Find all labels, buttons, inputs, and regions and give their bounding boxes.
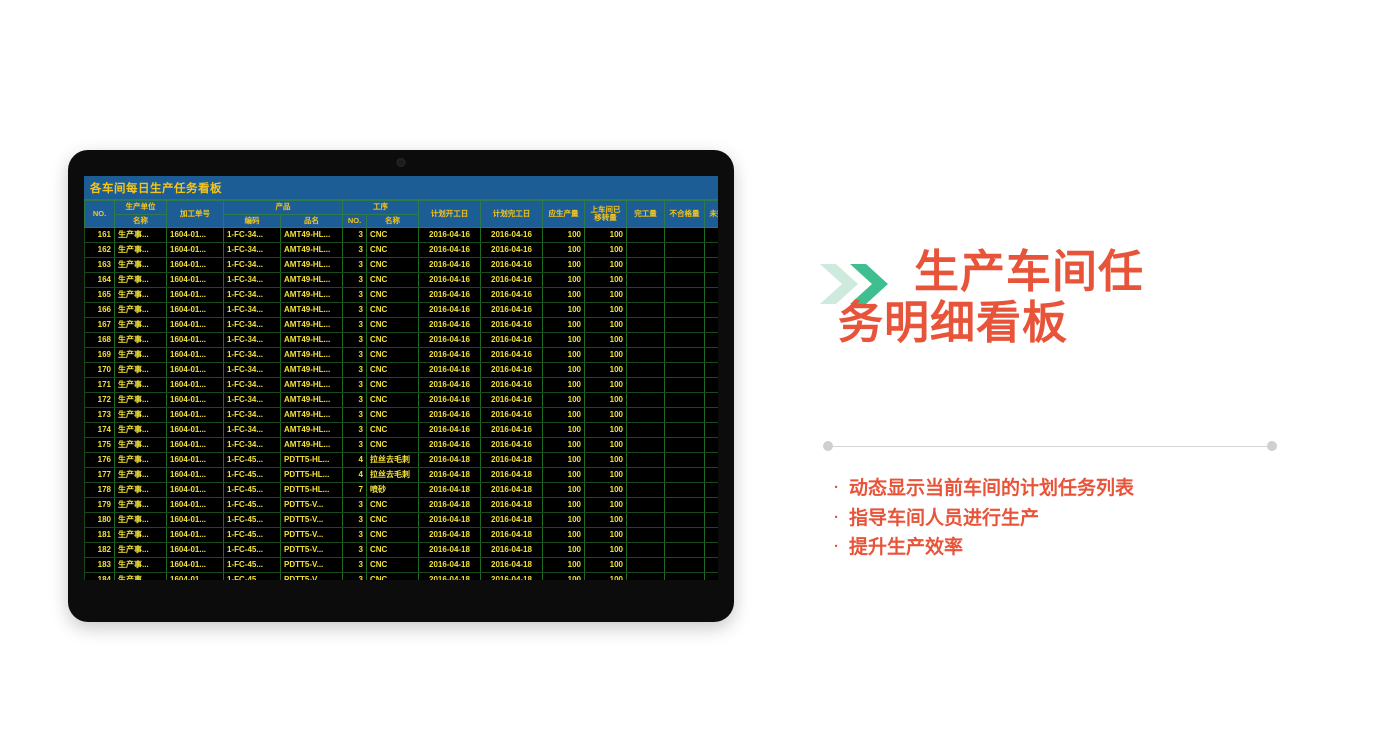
table-row[interactable]: 168生产事...1604-01...1-FC-34...AMT49-HL...… <box>85 333 719 348</box>
cell-加工单号: 1604-01... <box>167 453 224 468</box>
cell-工序名称: CNC <box>367 498 419 513</box>
cell-品名: AMT49-HL... <box>281 318 343 333</box>
th-remaining-qty: 未完成量 <box>705 201 719 228</box>
cell-上车间已移转量: 100 <box>585 243 627 258</box>
cell-品名: AMT49-HL... <box>281 378 343 393</box>
cell-计划开工日: 2016-04-16 <box>419 423 481 438</box>
cell-编码: 1-FC-34... <box>224 333 281 348</box>
cell-名称: 生产事... <box>115 333 167 348</box>
cell-完工量 <box>627 288 665 303</box>
cell-品名: AMT49-HL... <box>281 243 343 258</box>
cell-工序NO.: 3 <box>343 513 367 528</box>
tablet-screen: 各车间每日生产任务看板 NO. 生产 <box>84 176 718 580</box>
cell-完工量 <box>627 378 665 393</box>
cell-完工量 <box>627 303 665 318</box>
cell-上车间已移转量: 100 <box>585 543 627 558</box>
cell-加工单号: 1604-01... <box>167 288 224 303</box>
cell-加工单号: 1604-01... <box>167 258 224 273</box>
cell-完工量 <box>627 423 665 438</box>
cell-计划开工日: 2016-04-18 <box>419 453 481 468</box>
cell-完工量 <box>627 543 665 558</box>
cell-工序NO.: 3 <box>343 438 367 453</box>
page-title: 生产车间任 务明细看板 <box>914 246 1144 349</box>
cell-加工单号: 1604-01... <box>167 378 224 393</box>
cell-工序名称: CNC <box>367 543 419 558</box>
cell-加工单号: 1604-01... <box>167 243 224 258</box>
cell-编码: 1-FC-45... <box>224 498 281 513</box>
cell-编码: 1-FC-45... <box>224 483 281 498</box>
cell-加工单号: 1604-01... <box>167 408 224 423</box>
cell-完工量 <box>627 393 665 408</box>
table-row[interactable]: 181生产事...1604-01...1-FC-45...PDTT5-V...3… <box>85 528 719 543</box>
cell-计划开工日: 2016-04-16 <box>419 408 481 423</box>
cell-名称: 生产事... <box>115 393 167 408</box>
th-completed-qty: 完工量 <box>627 201 665 228</box>
cell-计划开工日: 2016-04-16 <box>419 243 481 258</box>
cell-工序名称: CNC <box>367 258 419 273</box>
cell-名称: 生产事... <box>115 228 167 243</box>
cell-NO.: 165 <box>85 288 115 303</box>
cell-名称: 生产事... <box>115 453 167 468</box>
th-process-name: 名称 <box>367 214 419 228</box>
cell-完工量 <box>627 228 665 243</box>
cell-品名: AMT49-HL... <box>281 363 343 378</box>
bullet-marker-icon: · <box>834 538 839 555</box>
table-row[interactable]: 178生产事...1604-01...1-FC-45...PDTT5-HL...… <box>85 483 719 498</box>
cell-上车间已移转量: 100 <box>585 438 627 453</box>
cell-工序名称: 拉丝去毛刺 <box>367 468 419 483</box>
cell-应生产量: 100 <box>543 573 585 580</box>
cell-完工量 <box>627 513 665 528</box>
table-row[interactable]: 170生产事...1604-01...1-FC-34...AMT49-HL...… <box>85 363 719 378</box>
cell-工序NO.: 3 <box>343 273 367 288</box>
cell-未完成量: 100 <box>705 528 719 543</box>
cell-工序名称: CNC <box>367 318 419 333</box>
cell-品名: PDTT5-V... <box>281 543 343 558</box>
cell-加工单号: 1604-01... <box>167 348 224 363</box>
cell-不合格量 <box>665 558 705 573</box>
kanban-title: 各车间每日生产任务看板 <box>84 176 718 200</box>
cell-未完成量: 100 <box>705 243 719 258</box>
cell-NO.: 178 <box>85 483 115 498</box>
cell-NO.: 183 <box>85 558 115 573</box>
cell-编码: 1-FC-45... <box>224 573 281 580</box>
cell-编码: 1-FC-45... <box>224 468 281 483</box>
cell-工序NO.: 3 <box>343 333 367 348</box>
table-row[interactable]: 174生产事...1604-01...1-FC-34...AMT49-HL...… <box>85 423 719 438</box>
cell-工序名称: 喷砂 <box>367 483 419 498</box>
cell-未完成量: 100 <box>705 348 719 363</box>
production-task-table: NO. 生产单位 加工单号 产品 工序 计划开工日 计划完工日 应生产量 上车间… <box>84 200 718 580</box>
kanban-app: 各车间每日生产任务看板 NO. 生产 <box>84 176 718 580</box>
cell-品名: AMT49-HL... <box>281 393 343 408</box>
feature-bullet-list: ·动态显示当前车间的计划任务列表·指导车间人员进行生产·提升生产效率 <box>834 474 1304 563</box>
cell-计划开工日: 2016-04-18 <box>419 558 481 573</box>
cell-品名: PDTT5-HL... <box>281 468 343 483</box>
cell-编码: 1-FC-45... <box>224 543 281 558</box>
cell-计划完工日: 2016-04-18 <box>481 483 543 498</box>
cell-不合格量 <box>665 513 705 528</box>
cell-计划开工日: 2016-04-16 <box>419 393 481 408</box>
th-product-name: 品名 <box>281 214 343 228</box>
cell-完工量 <box>627 318 665 333</box>
th-process-no: NO. <box>343 214 367 228</box>
cell-上车间已移转量: 100 <box>585 513 627 528</box>
cell-不合格量 <box>665 438 705 453</box>
cell-完工量 <box>627 453 665 468</box>
list-item: ·提升生产效率 <box>834 533 1304 563</box>
th-product-group: 产品 <box>224 201 343 215</box>
cell-编码: 1-FC-45... <box>224 528 281 543</box>
cell-工序名称: CNC <box>367 438 419 453</box>
cell-NO.: 174 <box>85 423 115 438</box>
cell-加工单号: 1604-01... <box>167 558 224 573</box>
table-row[interactable]: 163生产事...1604-01...1-FC-34...AMT49-HL...… <box>85 258 719 273</box>
cell-加工单号: 1604-01... <box>167 303 224 318</box>
cell-不合格量 <box>665 468 705 483</box>
cell-计划完工日: 2016-04-18 <box>481 513 543 528</box>
cell-工序NO.: 3 <box>343 318 367 333</box>
cell-计划开工日: 2016-04-16 <box>419 378 481 393</box>
cell-上车间已移转量: 100 <box>585 378 627 393</box>
cell-工序名称: CNC <box>367 573 419 580</box>
cell-工序NO.: 3 <box>343 543 367 558</box>
table-row[interactable]: 162生产事...1604-01...1-FC-34...AMT49-HL...… <box>85 243 719 258</box>
table-row[interactable]: 169生产事...1604-01...1-FC-34...AMT49-HL...… <box>85 348 719 363</box>
cell-计划完工日: 2016-04-16 <box>481 273 543 288</box>
cell-工序NO.: 3 <box>343 408 367 423</box>
cell-计划完工日: 2016-04-18 <box>481 543 543 558</box>
cell-工序名称: CNC <box>367 303 419 318</box>
th-plan-end-date: 计划完工日 <box>481 201 543 228</box>
cell-上车间已移转量: 100 <box>585 423 627 438</box>
cell-计划开工日: 2016-04-16 <box>419 288 481 303</box>
cell-计划完工日: 2016-04-18 <box>481 453 543 468</box>
cell-计划完工日: 2016-04-16 <box>481 393 543 408</box>
cell-上车间已移转量: 100 <box>585 228 627 243</box>
cell-编码: 1-FC-34... <box>224 258 281 273</box>
cell-未完成量: 100 <box>705 573 719 580</box>
cell-名称: 生产事... <box>115 258 167 273</box>
cell-上车间已移转量: 100 <box>585 318 627 333</box>
cell-编码: 1-FC-34... <box>224 228 281 243</box>
cell-NO.: 176 <box>85 453 115 468</box>
cell-工序NO.: 3 <box>343 573 367 580</box>
cell-计划开工日: 2016-04-16 <box>419 303 481 318</box>
th-no: NO. <box>85 201 115 228</box>
cell-应生产量: 100 <box>543 228 585 243</box>
page-title-line-2: 务明细看板 <box>838 297 1144 348</box>
cell-计划开工日: 2016-04-18 <box>419 513 481 528</box>
cell-计划完工日: 2016-04-16 <box>481 258 543 273</box>
cell-不合格量 <box>665 528 705 543</box>
tablet-device-mockup: 各车间每日生产任务看板 NO. 生产 <box>68 150 734 622</box>
cell-工序NO.: 3 <box>343 288 367 303</box>
cell-不合格量 <box>665 288 705 303</box>
cell-加工单号: 1604-01... <box>167 318 224 333</box>
cell-计划完工日: 2016-04-16 <box>481 333 543 348</box>
table-row[interactable]: 177生产事...1604-01...1-FC-45...PDTT5-HL...… <box>85 468 719 483</box>
cell-品名: PDTT5-HL... <box>281 483 343 498</box>
cell-加工单号: 1604-01... <box>167 483 224 498</box>
cell-计划开工日: 2016-04-18 <box>419 543 481 558</box>
cell-计划完工日: 2016-04-16 <box>481 408 543 423</box>
cell-加工单号: 1604-01... <box>167 273 224 288</box>
cell-名称: 生产事... <box>115 498 167 513</box>
cell-计划开工日: 2016-04-16 <box>419 438 481 453</box>
cell-计划完工日: 2016-04-16 <box>481 423 543 438</box>
cell-编码: 1-FC-45... <box>224 558 281 573</box>
bullet-text: 指导车间人员进行生产 <box>849 508 1039 529</box>
cell-应生产量: 100 <box>543 468 585 483</box>
cell-工序NO.: 3 <box>343 558 367 573</box>
cell-NO.: 180 <box>85 513 115 528</box>
section-divider <box>823 441 1277 451</box>
cell-未完成量: 100 <box>705 513 719 528</box>
table-row[interactable]: 172生产事...1604-01...1-FC-34...AMT49-HL...… <box>85 393 719 408</box>
cell-编码: 1-FC-34... <box>224 273 281 288</box>
table-row[interactable]: 165生产事...1604-01...1-FC-34...AMT49-HL...… <box>85 288 719 303</box>
cell-未完成量: 100 <box>705 258 719 273</box>
cell-计划开工日: 2016-04-18 <box>419 468 481 483</box>
cell-完工量 <box>627 408 665 423</box>
cell-计划开工日: 2016-04-16 <box>419 273 481 288</box>
cell-工序NO.: 3 <box>343 393 367 408</box>
cell-应生产量: 100 <box>543 273 585 288</box>
cell-工序名称: CNC <box>367 243 419 258</box>
cell-不合格量 <box>665 348 705 363</box>
cell-品名: AMT49-HL... <box>281 258 343 273</box>
cell-上车间已移转量: 100 <box>585 333 627 348</box>
cell-未完成量: 100 <box>705 363 719 378</box>
cell-品名: PDTT5-V... <box>281 558 343 573</box>
cell-应生产量: 100 <box>543 258 585 273</box>
cell-不合格量 <box>665 228 705 243</box>
headline-block: 生产车间任 务明细看板 <box>820 246 1290 349</box>
list-item: ·指导车间人员进行生产 <box>834 504 1304 534</box>
table-row[interactable]: 180生产事...1604-01...1-FC-45...PDTT5-V...3… <box>85 513 719 528</box>
cell-应生产量: 100 <box>543 318 585 333</box>
cell-NO.: 173 <box>85 408 115 423</box>
cell-工序NO.: 3 <box>343 363 367 378</box>
cell-加工单号: 1604-01... <box>167 363 224 378</box>
cell-完工量 <box>627 573 665 580</box>
cell-上车间已移转量: 100 <box>585 288 627 303</box>
cell-工序名称: CNC <box>367 423 419 438</box>
cell-计划完工日: 2016-04-18 <box>481 468 543 483</box>
table-row[interactable]: 179生产事...1604-01...1-FC-45...PDTT5-V...3… <box>85 498 719 513</box>
cell-名称: 生产事... <box>115 378 167 393</box>
divider-dot-left <box>823 441 833 451</box>
cell-编码: 1-FC-34... <box>224 243 281 258</box>
cell-编码: 1-FC-34... <box>224 318 281 333</box>
cell-品名: PDTT5-V... <box>281 573 343 580</box>
cell-完工量 <box>627 258 665 273</box>
cell-不合格量 <box>665 273 705 288</box>
list-item: ·动态显示当前车间的计划任务列表 <box>834 474 1304 504</box>
cell-加工单号: 1604-01... <box>167 393 224 408</box>
cell-不合格量 <box>665 408 705 423</box>
cell-计划完工日: 2016-04-16 <box>481 318 543 333</box>
table-row[interactable]: 175生产事...1604-01...1-FC-34...AMT49-HL...… <box>85 438 719 453</box>
cell-名称: 生产事... <box>115 318 167 333</box>
page-title-line-1: 生产车间任 <box>914 246 1144 297</box>
cell-NO.: 171 <box>85 378 115 393</box>
cell-计划完工日: 2016-04-18 <box>481 528 543 543</box>
cell-未完成量: 100 <box>705 498 719 513</box>
cell-计划完工日: 2016-04-18 <box>481 573 543 580</box>
cell-名称: 生产事... <box>115 528 167 543</box>
table-row[interactable]: 164生产事...1604-01...1-FC-34...AMT49-HL...… <box>85 273 719 288</box>
cell-上车间已移转量: 100 <box>585 573 627 580</box>
cell-NO.: 163 <box>85 258 115 273</box>
cell-不合格量 <box>665 318 705 333</box>
table-header: NO. 生产单位 加工单号 产品 工序 计划开工日 计划完工日 应生产量 上车间… <box>85 201 719 228</box>
cell-名称: 生产事... <box>115 513 167 528</box>
kanban-table-scroll-area[interactable]: NO. 生产单位 加工单号 产品 工序 计划开工日 计划完工日 应生产量 上车间… <box>84 200 718 580</box>
cell-完工量 <box>627 558 665 573</box>
cell-上车间已移转量: 100 <box>585 393 627 408</box>
th-product-code: 编码 <box>224 214 281 228</box>
table-body: 161生产事...1604-01...1-FC-34...AMT49-HL...… <box>85 228 719 580</box>
cell-上车间已移转量: 100 <box>585 483 627 498</box>
cell-完工量 <box>627 498 665 513</box>
cell-工序NO.: 4 <box>343 468 367 483</box>
cell-NO.: 181 <box>85 528 115 543</box>
cell-应生产量: 100 <box>543 498 585 513</box>
table-row[interactable]: 183生产事...1604-01...1-FC-45...PDTT5-V...3… <box>85 558 719 573</box>
cell-编码: 1-FC-34... <box>224 408 281 423</box>
cell-未完成量: 100 <box>705 453 719 468</box>
table-row[interactable]: 184生产事...1604-01...1-FC-45...PDTT5-V...3… <box>85 573 719 580</box>
cell-加工单号: 1604-01... <box>167 468 224 483</box>
cell-工序NO.: 3 <box>343 228 367 243</box>
cell-加工单号: 1604-01... <box>167 423 224 438</box>
cell-编码: 1-FC-34... <box>224 438 281 453</box>
cell-计划开工日: 2016-04-18 <box>419 573 481 580</box>
cell-计划完工日: 2016-04-16 <box>481 288 543 303</box>
cell-工序名称: CNC <box>367 393 419 408</box>
cell-名称: 生产事... <box>115 288 167 303</box>
cell-未完成量: 100 <box>705 228 719 243</box>
cell-工序名称: CNC <box>367 528 419 543</box>
cell-计划完工日: 2016-04-16 <box>481 243 543 258</box>
th-defect-qty: 不合格量 <box>665 201 705 228</box>
cell-工序NO.: 3 <box>343 528 367 543</box>
table-row[interactable]: 182生产事...1604-01...1-FC-45...PDTT5-V...3… <box>85 543 719 558</box>
cell-NO.: 162 <box>85 243 115 258</box>
cell-名称: 生产事... <box>115 573 167 580</box>
cell-应生产量: 100 <box>543 453 585 468</box>
cell-名称: 生产事... <box>115 468 167 483</box>
cell-计划开工日: 2016-04-16 <box>419 258 481 273</box>
cell-NO.: 167 <box>85 318 115 333</box>
cell-应生产量: 100 <box>543 333 585 348</box>
cell-不合格量 <box>665 573 705 580</box>
cell-上车间已移转量: 100 <box>585 528 627 543</box>
cell-NO.: 175 <box>85 438 115 453</box>
cell-完工量 <box>627 363 665 378</box>
cell-名称: 生产事... <box>115 243 167 258</box>
cell-上车间已移转量: 100 <box>585 558 627 573</box>
cell-品名: AMT49-HL... <box>281 408 343 423</box>
cell-未完成量: 100 <box>705 318 719 333</box>
cell-不合格量 <box>665 303 705 318</box>
cell-加工单号: 1604-01... <box>167 498 224 513</box>
cell-名称: 生产事... <box>115 438 167 453</box>
cell-应生产量: 100 <box>543 243 585 258</box>
slide-canvas: 各车间每日生产任务看板 NO. 生产 <box>0 0 1377 753</box>
cell-应生产量: 100 <box>543 393 585 408</box>
cell-名称: 生产事... <box>115 408 167 423</box>
cell-名称: 生产事... <box>115 423 167 438</box>
cell-未完成量: 100 <box>705 423 719 438</box>
cell-加工单号: 1604-01... <box>167 333 224 348</box>
cell-品名: PDTT5-HL... <box>281 453 343 468</box>
cell-计划完工日: 2016-04-18 <box>481 558 543 573</box>
cell-品名: AMT49-HL... <box>281 288 343 303</box>
cell-计划开工日: 2016-04-18 <box>419 528 481 543</box>
cell-加工单号: 1604-01... <box>167 513 224 528</box>
cell-编码: 1-FC-45... <box>224 453 281 468</box>
cell-NO.: 170 <box>85 363 115 378</box>
cell-未完成量: 100 <box>705 543 719 558</box>
cell-应生产量: 100 <box>543 408 585 423</box>
th-transferred-qty: 上车间已移转量 <box>585 201 627 228</box>
cell-品名: PDTT5-V... <box>281 528 343 543</box>
bullet-marker-icon: · <box>834 509 839 526</box>
cell-未完成量: 100 <box>705 378 719 393</box>
cell-未完成量: 100 <box>705 438 719 453</box>
cell-应生产量: 100 <box>543 528 585 543</box>
cell-上车间已移转量: 100 <box>585 273 627 288</box>
cell-完工量 <box>627 468 665 483</box>
cell-上车间已移转量: 100 <box>585 408 627 423</box>
table-row[interactable]: 171生产事...1604-01...1-FC-34...AMT49-HL...… <box>85 378 719 393</box>
cell-工序NO.: 3 <box>343 423 367 438</box>
cell-应生产量: 100 <box>543 363 585 378</box>
divider-line <box>833 446 1267 447</box>
cell-NO.: 179 <box>85 498 115 513</box>
cell-工序名称: CNC <box>367 288 419 303</box>
cell-上车间已移转量: 100 <box>585 498 627 513</box>
cell-完工量 <box>627 333 665 348</box>
cell-不合格量 <box>665 363 705 378</box>
cell-编码: 1-FC-34... <box>224 363 281 378</box>
table-row[interactable]: 161生产事...1604-01...1-FC-34...AMT49-HL...… <box>85 228 719 243</box>
table-row[interactable]: 166生产事...1604-01...1-FC-34...AMT49-HL...… <box>85 303 719 318</box>
cell-计划完工日: 2016-04-16 <box>481 228 543 243</box>
cell-品名: AMT49-HL... <box>281 273 343 288</box>
table-row[interactable]: 167生产事...1604-01...1-FC-34...AMT49-HL...… <box>85 318 719 333</box>
cell-未完成量: 100 <box>705 558 719 573</box>
table-row[interactable]: 176生产事...1604-01...1-FC-45...PDTT5-HL...… <box>85 453 719 468</box>
table-row[interactable]: 173生产事...1604-01...1-FC-34...AMT49-HL...… <box>85 408 719 423</box>
cell-计划完工日: 2016-04-16 <box>481 303 543 318</box>
cell-名称: 生产事... <box>115 273 167 288</box>
cell-应生产量: 100 <box>543 483 585 498</box>
cell-NO.: 184 <box>85 573 115 580</box>
cell-加工单号: 1604-01... <box>167 228 224 243</box>
cell-不合格量 <box>665 543 705 558</box>
cell-计划开工日: 2016-04-16 <box>419 318 481 333</box>
cell-NO.: 161 <box>85 228 115 243</box>
cell-工序名称: CNC <box>367 363 419 378</box>
cell-计划开工日: 2016-04-16 <box>419 363 481 378</box>
cell-名称: 生产事... <box>115 483 167 498</box>
cell-加工单号: 1604-01... <box>167 573 224 580</box>
th-required-qty: 应生产量 <box>543 201 585 228</box>
